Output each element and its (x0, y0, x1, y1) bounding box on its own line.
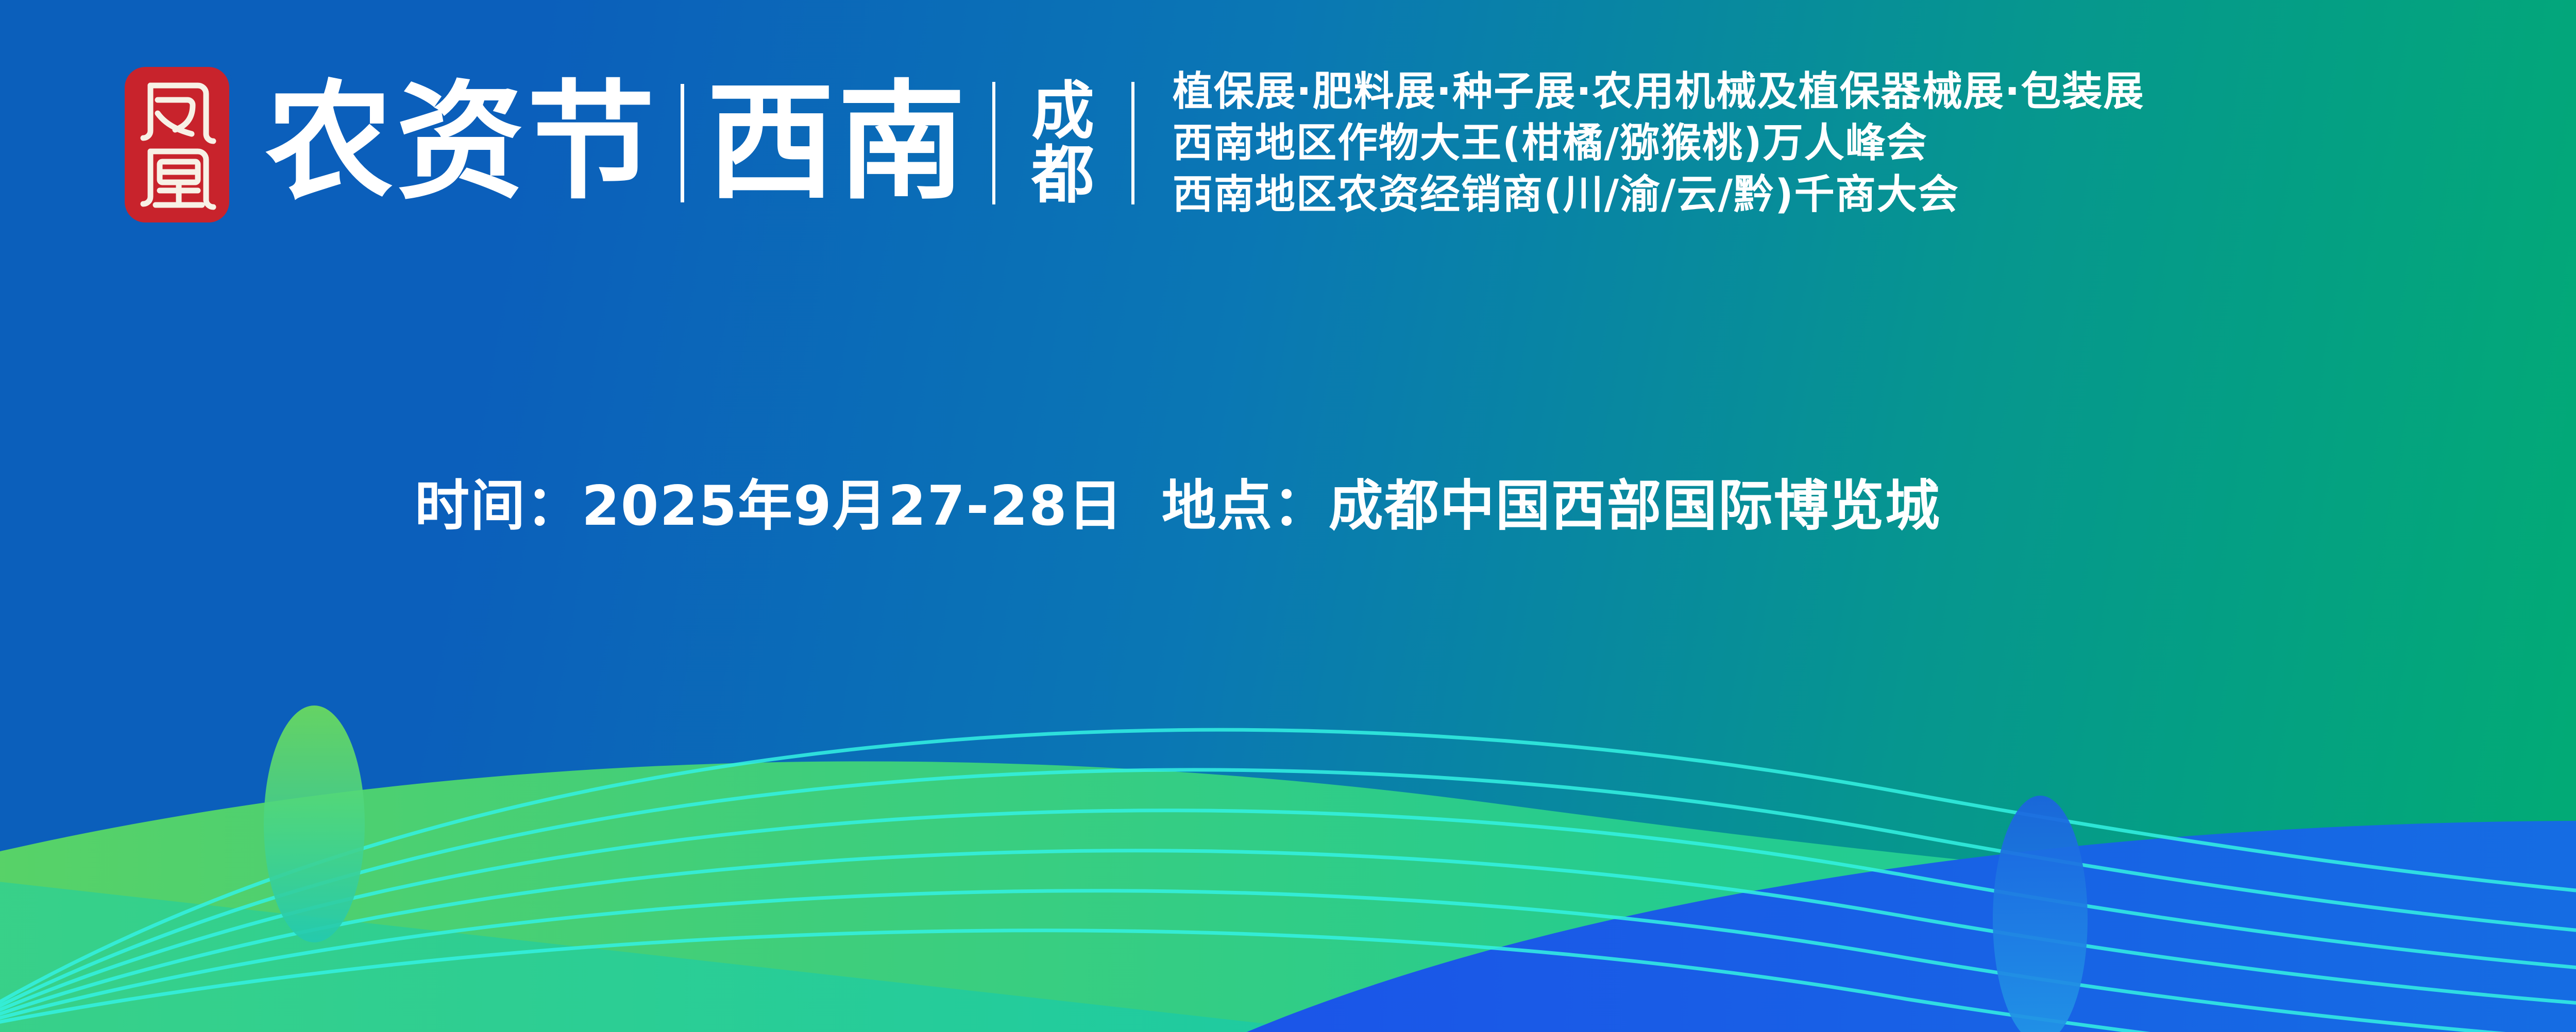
city-divider-right (1131, 82, 1134, 204)
banner-content: 农资节 西南 成都 植保展·肥料展·种子展·农用机械及植保器械展·包装展 西南地… (0, 0, 2576, 1032)
fenghuang-seal-icon (124, 61, 234, 226)
city-label: 成都 (1016, 79, 1111, 208)
subtitle-block: 植保展·肥料展·种子展·农用机械及植保器械展·包装展 西南地区作物大王(柑橘/猕… (1173, 72, 2145, 215)
time-label: 时间： (415, 479, 582, 534)
event-meta-row: 时间： 2025年9月27-28日 地点： 成都中国西部国际博览城 (415, 479, 1941, 534)
place-label: 地点： (1162, 479, 1329, 534)
title-divider-1 (681, 84, 684, 202)
main-title: 农资节 西南 (265, 83, 969, 203)
title-part-1: 农资节 (265, 83, 658, 203)
event-banner: 农资节 西南 成都 植保展·肥料展·种子展·农用机械及植保器械展·包装展 西南地… (0, 0, 2576, 1032)
subtitle-line-3: 西南地区农资经销商(川/渝/云/黔)千商大会 (1173, 175, 2145, 215)
time-value: 2025年9月27-28日 (582, 479, 1124, 534)
place-value: 成都中国西部国际博览城 (1329, 479, 1941, 534)
subtitle-line-1: 植保展·肥料展·种子展·农用机械及植保器械展·包装展 (1173, 72, 2145, 112)
city-divider-left (992, 82, 995, 204)
city-block: 成都 (972, 79, 1155, 208)
title-row: 农资节 西南 成都 植保展·肥料展·种子展·农用机械及植保器械展·包装展 西南地… (124, 61, 2145, 226)
title-part-2: 西南 (707, 83, 969, 203)
subtitle-line-2: 西南地区作物大王(柑橘/猕猴桃)万人峰会 (1173, 123, 2145, 163)
